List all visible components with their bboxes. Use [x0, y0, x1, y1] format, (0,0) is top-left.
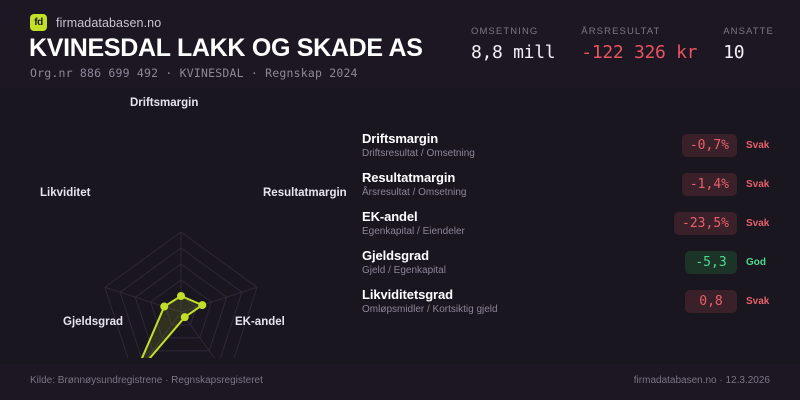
metric-verdict: Svak	[746, 218, 782, 229]
metric-verdict: Svak	[746, 296, 782, 307]
kpi-value: 8,8 mill	[471, 42, 555, 63]
brand-name: firmadatabasen.no	[56, 16, 161, 30]
radar-chart-svg	[0, 88, 355, 358]
metric-formula: Egenkapital / Eiendeler	[362, 225, 642, 239]
kpi-ansatte: ANSATTE 10	[723, 26, 774, 63]
kpi-omsetning: OMSETNING 8,8 mill	[471, 26, 555, 63]
metric-name: Driftsmargin	[362, 131, 642, 146]
metric-row: DriftsmarginDriftsresultat / Omsetning-0…	[362, 126, 782, 165]
kpi-value: 10	[723, 42, 774, 63]
metric-right: -0,7%Svak	[642, 134, 782, 157]
radar-chart: DriftsmarginResultatmarginEK-andelGjelds…	[0, 88, 355, 358]
radar-data-point	[181, 313, 189, 321]
radar-axis-label: Driftsmargin	[130, 97, 198, 109]
metric-names: DriftsmarginDriftsresultat / Omsetning	[362, 131, 642, 161]
firmadatabasen-logo-icon: fd	[30, 14, 47, 31]
metric-names: ResultatmarginÅrsresultat / Omsetning	[362, 170, 642, 200]
metric-verdict: Svak	[746, 179, 782, 190]
status-badge: -1,4%	[682, 173, 737, 196]
metric-name: Gjeldsgrad	[362, 248, 642, 263]
footer: Kilde: Brønnøysundregistrene · Regnskaps…	[0, 364, 800, 400]
metric-formula: Omløpsmidler / Kortsiktig gjeld	[362, 303, 642, 317]
radar-axis-label: Resultatmargin	[263, 187, 347, 199]
footer-source: Kilde: Brønnøysundregistrene · Regnskaps…	[30, 375, 263, 386]
kpi-label: ÅRSRESULTAT	[581, 26, 697, 37]
status-badge: -0,7%	[682, 134, 737, 157]
page-title: KVINESDAL LAKK OG SKADE AS	[29, 34, 423, 63]
metric-formula: Gjeld / Egenkapital	[362, 264, 642, 278]
kpi-arsresultat: ÅRSRESULTAT -122 326 kr	[581, 26, 697, 63]
metric-names: EK-andelEgenkapital / Eiendeler	[362, 209, 642, 239]
status-badge: -5,3	[685, 251, 737, 274]
kpi-label: OMSETNING	[471, 26, 555, 37]
radar-axis-label: Likviditet	[40, 187, 90, 199]
metric-right: -23,5%Svak	[642, 212, 782, 235]
metric-right: -5,3God	[642, 251, 782, 274]
metric-row: LikviditetsgradOmløpsmidler / Kortsiktig…	[362, 282, 782, 321]
kpi-group: OMSETNING 8,8 mill ÅRSRESULTAT -122 326 …	[471, 26, 774, 63]
metric-row: ResultatmarginÅrsresultat / Omsetning-1,…	[362, 165, 782, 204]
header: fd firmadatabasen.no KVINESDAL LAKK OG S…	[0, 0, 800, 88]
metric-formula: Årsresultat / Omsetning	[362, 186, 642, 200]
kpi-value: -122 326 kr	[581, 42, 697, 63]
radar-axis-label: EK-andel	[235, 316, 285, 328]
metric-right: -1,4%Svak	[642, 173, 782, 196]
radar-data-point	[198, 301, 206, 309]
metric-right: 0,8Svak	[642, 290, 782, 313]
metric-formula: Driftsresultat / Omsetning	[362, 147, 642, 161]
metric-names: GjeldsgradGjeld / Egenkapital	[362, 248, 642, 278]
metric-names: LikviditetsgradOmløpsmidler / Kortsiktig…	[362, 287, 642, 317]
metric-name: Likviditetsgrad	[362, 287, 642, 302]
metric-row: EK-andelEgenkapital / Eiendeler-23,5%Sva…	[362, 204, 782, 243]
radar-data-point	[177, 292, 185, 300]
status-badge: 0,8	[685, 290, 737, 313]
status-badge: -23,5%	[674, 212, 737, 235]
kpi-label: ANSATTE	[723, 26, 774, 37]
brand[interactable]: fd firmadatabasen.no	[30, 14, 161, 31]
radar-axis-label: Gjeldsgrad	[63, 316, 123, 328]
footer-attribution: firmadatabasen.no · 12.3.2026	[634, 375, 770, 386]
metrics-list: DriftsmarginDriftsresultat / Omsetning-0…	[362, 126, 782, 321]
metric-verdict: Svak	[746, 140, 782, 151]
metric-row: GjeldsgradGjeld / Egenkapital-5,3God	[362, 243, 782, 282]
report-card: fd firmadatabasen.no KVINESDAL LAKK OG S…	[0, 0, 800, 400]
radar-data-point	[160, 303, 168, 311]
metric-verdict: God	[746, 257, 782, 268]
metric-name: EK-andel	[362, 209, 642, 224]
metric-name: Resultatmargin	[362, 170, 642, 185]
company-subtitle: Org.nr 886 699 492 · KVINESDAL · Regnska…	[30, 66, 358, 80]
